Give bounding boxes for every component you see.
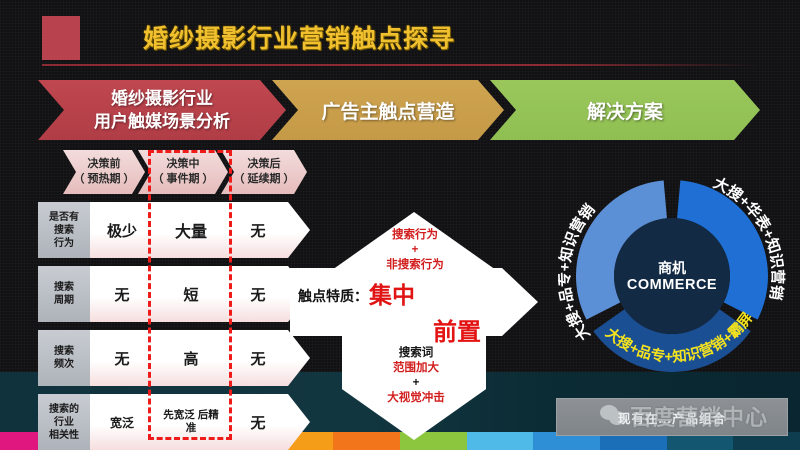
phase-chevron-3[interactable]: 决策后 （ 延续期 ） [221,150,307,194]
row-2-cell-3: 无 [232,284,284,305]
banner-item-3-label: 解决方案 [587,97,663,124]
page-title: 婚纱摄影行业营销触点探寻 [143,19,455,55]
cross-bottom-text: 搜索词 范围加大 + 大视觉冲击 [354,346,478,406]
phase-1-line2: （ 预热期 ） [73,172,134,187]
cross-bottom-plus: + [354,376,478,391]
table-row: 搜索的行业相关性 宽泛 先宽泛 后精准 无 [38,394,310,450]
slide-canvas: 婚纱摄影行业营销触点探寻 婚纱摄影行业 用户触媒场景分析 广告主触点营造 解决方… [0,0,800,450]
banner-item-3[interactable]: 解决方案 [490,80,760,140]
phase-3-line2: （ 延续期 ） [233,172,294,187]
row-4-label: 搜索的行业相关性 [38,394,90,450]
row-4-cell-3: 无 [232,412,284,433]
commerce-donut-chart: 大搜+华表+知识营销 大搜+品专+知识营销 大搜+品专+知识营销+霸屏 商机 C… [558,162,786,390]
cross-top-plus: + [346,243,484,258]
row-1-cell-3: 无 [232,220,284,241]
table-row: 搜索周期 无 短 无 [38,266,310,322]
phase-header-row: 决策前 （ 预热期 ） 决策中 （ 事件期 ） 决策后 （ 延续期 ） [63,150,307,194]
table-row: 是否有搜索行为 极少 大量 无 [38,202,310,258]
row-1-cell-2: 大量 [152,218,230,242]
row-2-cell-2: 短 [152,284,230,305]
banner-item-1-line1: 婚纱摄影行业 [111,87,213,110]
row-1-label: 是否有搜索行为 [38,202,90,258]
footer-note-text: 现有在...产品组合 [618,408,726,427]
cross-top-line1: 搜索行为 [346,228,484,243]
cross-bottom-line3: 大视觉冲击 [354,391,478,406]
phase-3-line1: 决策后 [248,157,281,172]
row-1-arrow: 极少 大量 无 [90,202,310,258]
cross-top-line2: 非搜索行为 [346,258,484,273]
row-2-cell-1: 无 [94,284,150,305]
cross-bottom-line1: 搜索词 [354,346,478,361]
section-banner: 婚纱摄影行业 用户触媒场景分析 广告主触点营造 解决方案 [38,80,760,140]
row-3-cell-3: 无 [232,348,284,369]
row-2-arrow: 无 短 无 [90,266,310,322]
title-accent-block [42,16,80,60]
donut-center-label: 商机 COMMERCE [627,259,717,293]
row-2-label: 搜索周期 [38,266,90,322]
phase-chevron-1[interactable]: 决策前 （ 预热期 ） [63,150,145,194]
row-4-cell-2: 先宽泛 后精准 [152,409,230,435]
footer-note-box: 现有在...产品组合 [556,398,788,436]
phase-1-line1: 决策前 [88,157,121,172]
title-underline [42,64,758,66]
row-3-cell-1: 无 [94,348,150,369]
banner-item-1-line2: 用户触媒场景分析 [94,110,230,133]
banner-item-1[interactable]: 婚纱摄影行业 用户触媒场景分析 [38,80,286,140]
row-3-cell-2: 高 [152,348,230,369]
row-4-arrow: 宽泛 先宽泛 后精准 无 [90,394,310,450]
cross-mid-highlight: 集中 [369,284,415,307]
cross-big-word: 前置 [402,312,512,347]
phase-2-line2: （ 事件期 ） [152,172,213,187]
donut-center-en: COMMERCE [627,277,717,293]
cross-arrow-diagram: 搜索行为 + 非搜索行为 触点特质： 集中 前置 搜索词 范围加大 + 大视觉冲… [290,212,538,440]
row-3-label: 搜索频次 [38,330,90,386]
cross-bottom-line2: 范围加大 [354,361,478,376]
cross-mid-prefix: 触点特质： [298,286,368,306]
cross-top-text: 搜索行为 + 非搜索行为 [346,228,484,273]
row-1-cell-1: 极少 [94,220,150,241]
row-3-arrow: 无 高 无 [90,330,310,386]
row-4-cell-1: 宽泛 [94,414,150,431]
banner-item-2[interactable]: 广告主触点营造 [272,80,504,140]
cross-mid-text: 触点特质： 集中 [298,284,488,307]
banner-item-2-label: 广告主触点营造 [321,97,454,124]
phase-2-line1: 决策中 [167,157,200,172]
donut-center-cn: 商机 [627,259,717,277]
phase-chevron-2[interactable]: 决策中 （ 事件期 ） [138,150,228,194]
table-row: 搜索频次 无 高 无 [38,330,310,386]
